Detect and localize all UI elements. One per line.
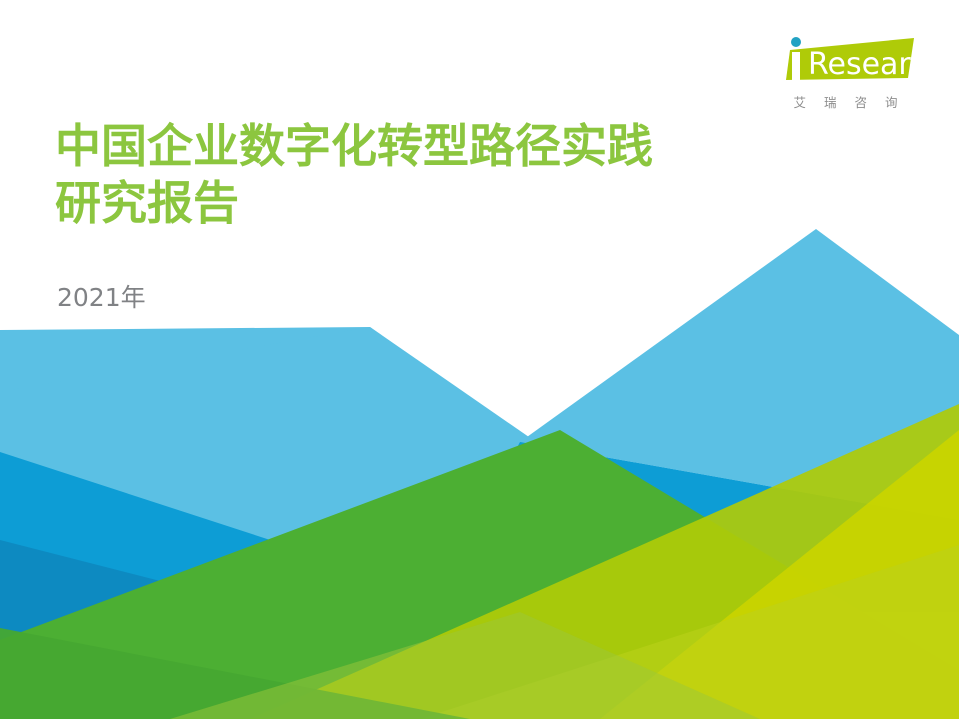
yellow-green-mid-wedge-shape [250,404,959,719]
light-blue-left-peak-shape [0,327,620,560]
logo-mark: Research [768,28,928,90]
light-blue-right-peak-shape [520,229,959,520]
logo-i-stem [792,52,800,80]
page-title: 中国企业数字化转型路径实践 研究报告 [55,118,845,232]
title-line-2: 研究报告 [55,175,845,232]
mid-blue-left-slope-shape [0,452,820,719]
olive-overlay-shape [420,545,959,719]
logo-subtitle: 艾 瑞 咨 询 [774,92,924,111]
subtitle-year: 2021年 [57,278,146,314]
report-cover-slide: Research 艾 瑞 咨 询 中国企业数字化转型路径实践 研究报告 2021… [0,0,959,719]
iresearch-logo: Research 艾 瑞 咨 询 [768,28,928,120]
logo-i-dot-icon [791,37,801,47]
light-green-bottom-band-shape [170,612,760,719]
logo-wordmark-text: Research [808,47,928,82]
mid-blue-right-slope-shape [430,442,959,612]
lime-right-wedge-shape [600,430,959,719]
grass-green-lower-left-shape [0,628,470,719]
title-line-1: 中国企业数字化转型路径实践 [55,118,845,175]
deep-blue-band-shape [0,540,700,719]
light-blue-left-ridge-shape [0,327,700,640]
logo-badge-icon: Research [768,28,928,90]
grass-green-base-shape [0,430,959,719]
